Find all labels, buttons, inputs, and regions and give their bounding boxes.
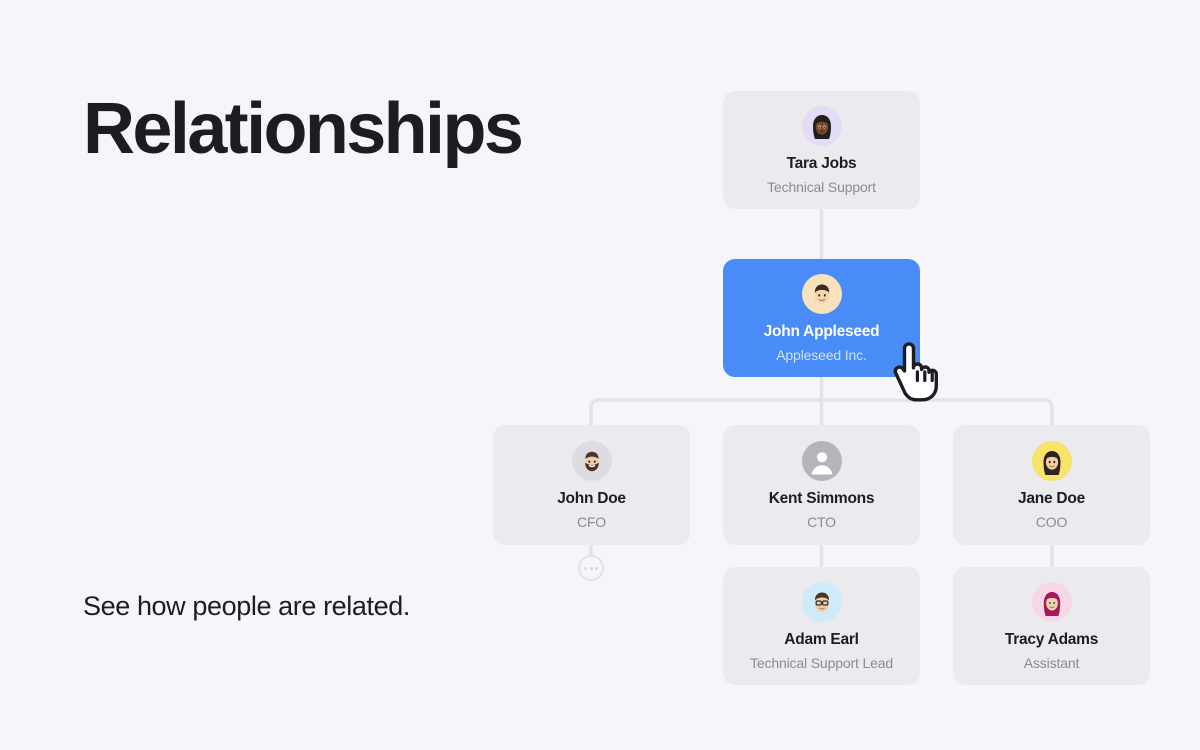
org-node-role: Technical Support Lead <box>750 653 893 674</box>
org-node-name: Jane Doe <box>1018 490 1085 509</box>
org-node-kent-simmons[interactable]: Kent Simmons CTO <box>723 425 920 545</box>
ellipsis-icon <box>595 567 598 570</box>
ellipsis-icon <box>584 567 587 570</box>
org-node-tara-jobs[interactable]: Tara Jobs Technical Support <box>723 91 920 209</box>
org-node-name: Adam Earl <box>784 631 858 650</box>
connector-john-children-bus <box>591 400 1052 424</box>
pointing-hand-cursor <box>884 336 956 408</box>
org-node-tracy-adams[interactable]: Tracy Adams Assistant <box>953 567 1150 685</box>
org-chart: Tara Jobs Technical Support John Applese… <box>0 0 1200 750</box>
org-node-role: COO <box>1036 512 1067 533</box>
org-node-role: Technical Support <box>767 177 876 198</box>
avatar-man-glasses-icon <box>802 582 842 622</box>
org-node-name: Tracy Adams <box>1005 631 1098 650</box>
org-node-john-doe[interactable]: John Doe CFO <box>493 425 690 545</box>
org-node-adam-earl[interactable]: Adam Earl Technical Support Lead <box>723 567 920 685</box>
org-node-role: CTO <box>807 512 836 533</box>
org-node-role: CFO <box>577 512 606 533</box>
org-node-name: John Doe <box>557 490 626 509</box>
avatar-woman-long-hair-icon <box>1032 441 1072 481</box>
avatar-woman-dark-hair-icon <box>802 106 842 146</box>
avatar-woman-pink-hair-icon <box>1032 582 1072 622</box>
ellipsis-icon <box>590 567 593 570</box>
avatar-man-beard-icon <box>572 441 612 481</box>
org-node-role: Appleseed Inc. <box>776 345 867 366</box>
org-node-name: Tara Jobs <box>787 155 857 174</box>
expand-children-button[interactable] <box>578 555 604 581</box>
avatar-man-short-hair-icon <box>802 274 842 314</box>
org-node-name: John Appleseed <box>764 323 880 342</box>
org-node-jane-doe[interactable]: Jane Doe COO <box>953 425 1150 545</box>
org-node-role: Assistant <box>1024 653 1079 674</box>
avatar-person-placeholder-icon <box>802 441 842 481</box>
org-node-name: Kent Simmons <box>769 490 875 509</box>
